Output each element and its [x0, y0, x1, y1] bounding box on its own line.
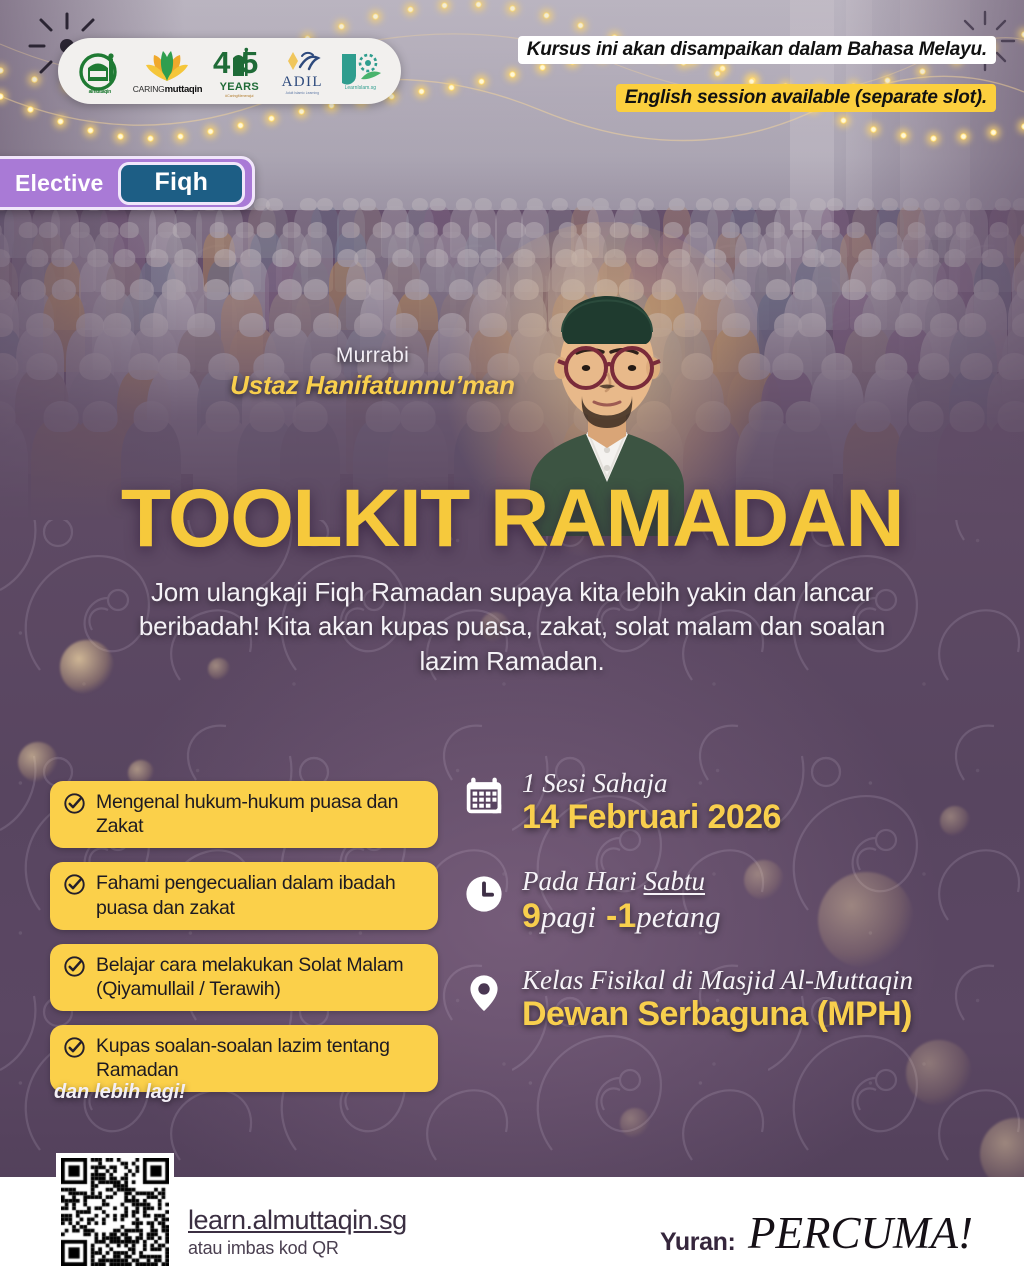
course-category-badge: Elective Fiqh	[0, 156, 255, 210]
language-notice: Kursus ini akan disampaikan dalam Bahasa…	[518, 36, 996, 64]
light-bulb	[27, 106, 34, 113]
clock-icon	[462, 872, 506, 921]
light-bulb	[57, 118, 64, 125]
learnislam-label: LearnIslam.sg	[345, 85, 376, 91]
light-bulb	[147, 135, 154, 142]
benefits-footer-note: dan lebih lagi!	[54, 1081, 185, 1104]
time-end-number: -1	[606, 897, 636, 935]
light-bulb	[509, 5, 516, 12]
website-url-link[interactable]: learn.almuttaqin.sg	[188, 1205, 407, 1236]
light-bulb	[448, 84, 455, 91]
light-bulb	[919, 68, 926, 75]
list-item-label: Mengenal hukum-hukum puasa dan Zakat	[96, 790, 424, 838]
list-item: Fahami pengecualian dalam ibadah puasa d…	[50, 862, 438, 929]
time-top-label: Pada Hari Sabtu	[522, 866, 721, 896]
caring-muttaqin-logo: CARINGmuttaqin	[133, 47, 203, 95]
time-row: Pada Hari Sabtu 9pagi-1petang	[462, 866, 1012, 935]
calendar-icon	[462, 774, 506, 823]
venue-value: Dewan Serbaguna (MPH)	[522, 995, 913, 1034]
check-circle-icon	[63, 873, 86, 901]
partner-logo-bar: almuttaqin CARINGmuttaqin 4	[58, 38, 401, 104]
page-subtitle: Jom ulangkaji Fiqh Ramadan supaya kita l…	[120, 575, 904, 678]
time-start-word: pagi	[541, 899, 596, 934]
fee-value: PERCUMA!	[748, 1207, 973, 1259]
muttaqin-label: muttaqin	[165, 84, 203, 95]
check-circle-icon	[63, 792, 86, 820]
badge-subject-pill: Fiqh	[118, 162, 246, 205]
light-bulb	[441, 2, 448, 9]
date-row: 1 Sesi Sahaja 14 Februari 2026	[462, 768, 1012, 837]
check-circle-icon	[63, 1036, 86, 1064]
venue-top-label: Kelas Fisikal di Masjid Al-Muttaqin	[522, 965, 913, 995]
qr-code[interactable]	[56, 1153, 174, 1271]
al-muttaqin-logo-label: almuttaqin	[89, 90, 111, 95]
list-item-label: Belajar cara melakukan Solat Malam (Qiya…	[96, 953, 424, 1001]
time-day-prefix: Pada Hari	[522, 866, 644, 896]
adil-label: ADIL	[282, 74, 323, 91]
light-bulb	[1021, 123, 1024, 130]
session-details: 1 Sesi Sahaja 14 Februari 2026 Pada Hari…	[462, 768, 1012, 1034]
qr-instruction-label: atau imbas kod QR	[188, 1238, 339, 1259]
time-end-word: petang	[636, 899, 720, 934]
list-item: Belajar cara melakukan Solat Malam (Qiya…	[50, 944, 438, 1011]
list-item-label: Kupas soalan-soalan lazim tentang Ramada…	[96, 1034, 424, 1082]
light-bulb	[714, 70, 721, 77]
45-years-logo: 4 5 YEARS #CaringMenerajui	[211, 44, 267, 98]
date-value: 14 Februari 2026	[522, 798, 781, 837]
fee-label: Yuran:	[660, 1228, 735, 1257]
light-bulb	[840, 117, 847, 124]
light-bulb	[268, 115, 275, 122]
english-session-notice: English session available (separate slot…	[616, 84, 996, 112]
learnislam-sg-logo: LearnIslam.sg	[337, 52, 383, 91]
adil-logo: ADIL Adult Islamic Learning	[276, 47, 328, 96]
light-bulb	[930, 135, 937, 142]
date-top-label: 1 Sesi Sahaja	[522, 768, 781, 798]
light-bulb	[407, 6, 414, 13]
light-bulb	[539, 64, 546, 71]
check-circle-icon	[63, 955, 86, 983]
light-bulb	[117, 133, 124, 140]
time-value: 9pagi-1petang	[522, 897, 721, 936]
svg-text:4: 4	[213, 45, 231, 78]
location-pin-icon	[462, 971, 506, 1020]
al-muttaqin-mosque-logo: almuttaqin	[76, 48, 124, 95]
years-sub-label: #CaringMenerajui	[225, 94, 253, 98]
poster: almuttaqin CARINGmuttaqin 4	[0, 0, 1024, 1280]
light-bulb	[0, 93, 4, 100]
light-bulb	[298, 108, 305, 115]
adil-sub-label: Adult Islamic Learning	[286, 91, 319, 95]
benefits-list: Mengenal hukum-hukum puasa dan Zakat Fah…	[50, 781, 438, 1092]
list-item-label: Fahami pengecualian dalam ibadah puasa d…	[96, 871, 424, 919]
light-bulb	[177, 133, 184, 140]
time-start-number: 9	[522, 897, 541, 935]
venue-row: Kelas Fisikal di Masjid Al-Muttaqin Dewa…	[462, 965, 1012, 1034]
page-title: TOOLKIT RAMADAN	[0, 472, 1024, 566]
time-day-value: Sabtu	[644, 866, 706, 896]
caring-label: CARING	[133, 84, 165, 94]
badge-category-label: Elective	[15, 170, 104, 197]
list-item: Mengenal hukum-hukum puasa dan Zakat	[50, 781, 438, 848]
light-bulb	[509, 71, 516, 78]
